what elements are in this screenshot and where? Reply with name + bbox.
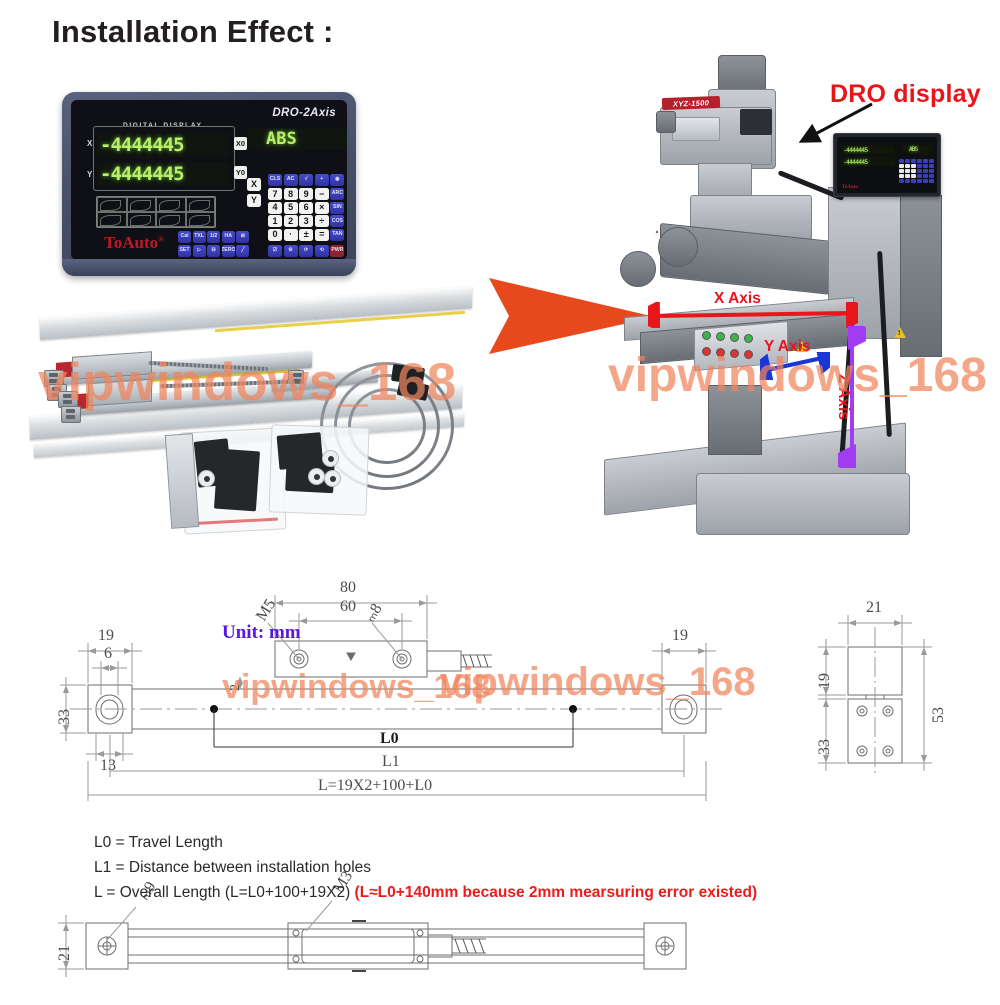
lcd-readout-x: -4444445 <box>97 133 229 157</box>
y-axis-arrow-icon <box>760 352 830 380</box>
legend-line-1: L0 = Travel Length <box>94 834 223 852</box>
num-key-6[interactable]: 6 <box>299 202 313 214</box>
dim-reader-inner: 60 <box>340 598 356 616</box>
function-key[interactable]: ZERO <box>222 245 235 257</box>
dim-body-height: 33 <box>56 709 74 725</box>
num-key-2[interactable]: 2 <box>284 215 298 227</box>
z-axis-label: Z Axis <box>834 374 852 420</box>
brand-name: ToAuto <box>104 233 158 252</box>
clear-key[interactable]: CLS <box>268 174 282 186</box>
ac-key[interactable]: AC <box>284 174 298 186</box>
technical-drawing-svg <box>0 565 1000 1000</box>
brand-registered-mark: ® <box>158 234 164 243</box>
function-key[interactable]: HA <box>222 231 235 243</box>
minus-key[interactable]: − <box>315 188 329 200</box>
function-key[interactable]: ⊞ <box>236 231 249 243</box>
mounting-bracket-4 <box>61 406 81 423</box>
machine-dro-mode: ABS <box>909 146 917 153</box>
bolt-hole-pattern-graphic <box>96 196 216 228</box>
mounting-hardware-2 <box>214 449 260 512</box>
keypad-top-row[interactable]: CLS AC √ + ◉ <box>268 174 344 186</box>
numeric-keypad[interactable]: 7 8 9 − ARC 4 5 6 × SIN 1 2 3 ÷ COS 0 · … <box>268 188 344 241</box>
cos-key[interactable]: COS <box>330 215 344 227</box>
divide-key[interactable]: ÷ <box>315 215 329 227</box>
control-button-green-4[interactable] <box>744 334 753 343</box>
y-axis-label: Y Axis <box>764 338 811 356</box>
control-button-red-3[interactable] <box>730 349 739 358</box>
zero-button-y[interactable]: Y0 <box>234 166 247 179</box>
undo-icon-key[interactable]: ⟲ <box>315 245 329 257</box>
machine-spindle-nose <box>656 111 676 133</box>
keypad-bottom-row[interactable]: ☑ ⚙ ⟳ ⟲ PWR <box>268 245 344 257</box>
machine-handwheel-2 <box>620 251 656 287</box>
num-key-0[interactable]: 0 <box>268 229 282 241</box>
control-button-red-4[interactable] <box>744 350 753 359</box>
function-key[interactable]: TXL <box>193 231 206 243</box>
x-axis-label: X Axis <box>714 290 761 308</box>
machine-model-badge: XYZ-1500 <box>662 96 720 110</box>
legend-line-3: L = Overall Length (L=L0+100+19X2) (L≈L0… <box>94 884 757 902</box>
function-key[interactable]: 1/2 <box>207 231 220 243</box>
dim-end-width-right: 19 <box>672 627 688 645</box>
washer-3 <box>308 468 325 485</box>
dim-gap: 2 <box>228 684 244 691</box>
brand-logo: ToAuto® <box>104 233 164 253</box>
lcd-value-y: -4444445 <box>100 165 184 184</box>
equals-key[interactable]: = <box>315 229 329 241</box>
num-key-4[interactable]: 4 <box>268 202 282 214</box>
dim-section-upper: 19 <box>816 673 834 689</box>
num-key-3[interactable]: 3 <box>299 215 313 227</box>
control-button-green-1[interactable] <box>702 331 711 340</box>
machine-pedestal <box>708 385 762 455</box>
dro-callout-arrow-icon <box>790 100 880 150</box>
gear-icon-key[interactable]: ⚙ <box>284 245 298 257</box>
function-key[interactable]: ▷ <box>193 245 206 257</box>
dim-bottom-height: 21 <box>56 945 74 961</box>
read-head-2 <box>88 379 152 406</box>
legend-line-2: L1 = Distance between installation holes <box>94 859 371 877</box>
machine-dro-keypad <box>899 159 934 183</box>
plus-key[interactable]: + <box>315 174 329 186</box>
function-keys-row-1[interactable]: Cal TXL 1/2 HA ⊞ <box>178 231 249 243</box>
lcd-readout-y: -4444445 <box>97 162 229 186</box>
refresh-icon-key[interactable]: ⟳ <box>299 245 313 257</box>
function-keys-row-2[interactable]: SET ▷ ⊟ ZERO ╱ <box>178 245 249 257</box>
function-key[interactable]: Cal <box>178 231 191 243</box>
mounting-bracket-5 <box>288 370 304 384</box>
arc-key[interactable]: ARC <box>330 188 344 200</box>
sin-key[interactable]: SIN <box>330 202 344 214</box>
dim-section-total: 53 <box>930 707 948 723</box>
legend-line-3-note: (L≈L0+140mm because 2mm mearsuring error… <box>355 884 758 901</box>
sqrt-key[interactable]: √ <box>299 174 313 186</box>
warning-icon-2 <box>894 327 906 338</box>
function-key[interactable]: SET <box>178 245 191 257</box>
enter-key[interactable]: ☑ <box>268 245 282 257</box>
axis-select-key-x[interactable]: X <box>247 178 261 191</box>
washer-4 <box>324 470 341 487</box>
mode-value: ABS <box>266 131 297 148</box>
function-key[interactable]: ╱ <box>236 245 249 257</box>
dim-travel-length: L0 <box>380 730 399 748</box>
dro-housing-base <box>62 259 356 276</box>
lcd-value-x: -4444445 <box>100 136 184 155</box>
axis-label-y: Y <box>87 170 92 179</box>
control-button-green-2[interactable] <box>716 332 725 341</box>
page-title: Installation Effect : <box>52 14 334 50</box>
machine-dro-value-y: -4444445 <box>843 158 867 166</box>
function-key[interactable]: ⊟ <box>207 245 220 257</box>
multiply-key[interactable]: × <box>315 202 329 214</box>
num-key-1[interactable]: 1 <box>268 215 282 227</box>
legend-line-3-text: L = Overall Length (L=L0+100+19X2) <box>94 884 350 901</box>
dim-hole-width: 13 <box>100 757 116 775</box>
machine-column-side <box>900 195 942 357</box>
dim-overall-length: L=19X2+100+L0 <box>318 777 432 795</box>
axis-select-keys[interactable]: X Y <box>247 178 261 207</box>
dro-display-unit: DRO-2Axis DIGITAL DISPLAY X -4444445 X0 … <box>62 92 356 276</box>
linear-scale-kit-photo <box>20 278 482 550</box>
technical-drawing-section: 19 6 33 13 80 60 M5 ₘ8 2 19 L0 L1 L=19X2… <box>0 565 1000 1000</box>
aluminium-rail-long <box>40 286 472 340</box>
dim-hole-offset: 6 <box>104 645 112 663</box>
control-button-red-2[interactable] <box>716 348 725 357</box>
machine-switch-block <box>740 109 772 135</box>
dim-section-lower: 33 <box>816 739 834 755</box>
machine-dro-brand: ToAuto <box>842 185 858 190</box>
mode-display: ABS <box>248 129 347 150</box>
decimal-key[interactable]: · <box>284 229 298 241</box>
zero-button-x[interactable]: X0 <box>234 137 247 150</box>
dro-model-label: DRO-2Axis <box>272 107 336 119</box>
power-key[interactable]: PWR <box>330 245 344 257</box>
mounted-dro-display <box>656 231 658 233</box>
num-key-8[interactable]: 8 <box>284 188 298 200</box>
axis-select-key-y[interactable]: Y <box>247 194 261 207</box>
control-button-red-1[interactable] <box>702 347 711 356</box>
num-key-5[interactable]: 5 <box>284 202 298 214</box>
axis-label-x: X <box>87 139 92 148</box>
tan-key[interactable]: TAN <box>330 229 344 241</box>
dro-face-panel: DRO-2Axis DIGITAL DISPLAY X -4444445 X0 … <box>71 100 347 260</box>
washer-2 <box>322 450 339 467</box>
dim-end-width-left: 19 <box>98 627 114 645</box>
washer-1 <box>198 470 215 487</box>
num-key-9[interactable]: 9 <box>299 188 313 200</box>
machine-base <box>696 473 910 535</box>
power-icon-key[interactable]: ◉ <box>330 174 344 186</box>
machine-nameplate <box>672 117 720 141</box>
control-button-green-3[interactable] <box>730 333 739 342</box>
sign-key[interactable]: ± <box>299 229 313 241</box>
machine-handwheel <box>658 227 698 267</box>
unit-note: Unit: mm <box>222 622 301 644</box>
dim-section-width: 21 <box>866 599 882 617</box>
dim-reader-outer: 80 <box>340 579 356 597</box>
dim-hole-distance: L1 <box>382 753 400 771</box>
num-key-7[interactable]: 7 <box>268 188 282 200</box>
